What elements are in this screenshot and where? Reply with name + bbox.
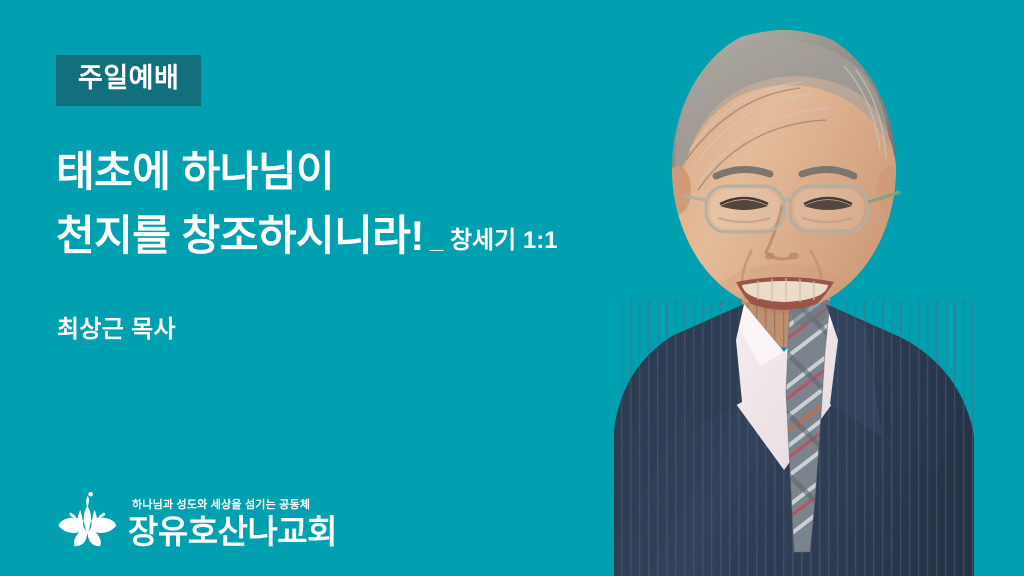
sermon-title-card: 주일예배 태초에 하나님이 천지를 창조하시니라!_ 창세기 1:1 최상근 목… [0, 0, 1024, 576]
headline-line-2-row: 천지를 창조하시니라!_ 창세기 1:1 [56, 204, 656, 268]
headline-line-1: 태초에 하나님이 [56, 140, 656, 204]
logo-tagline: 하나님과 성도와 세상을 섬기는 공동체 [132, 496, 337, 512]
speaker-name: 최상근 목사 [57, 309, 176, 344]
slide-content: 주일예배 태초에 하나님이 천지를 창조하시니라!_ 창세기 1:1 최상근 목… [0, 0, 660, 576]
scripture-reference: _ 창세기 1:1 [430, 227, 558, 254]
lily-flower-icon [56, 490, 118, 548]
church-logo: 하나님과 성도와 세상을 섬기는 공동체 장유호산나교회 [56, 490, 337, 550]
headline-line-2: 천지를 창조하시니라! [56, 212, 424, 259]
church-name: 장유호산나교회 [128, 515, 337, 550]
sermon-headline: 태초에 하나님이 천지를 창조하시니라!_ 창세기 1:1 [56, 140, 656, 268]
logo-wordmark: 하나님과 성도와 세상을 섬기는 공동체 장유호산나교회 [128, 496, 337, 550]
service-type-badge: 주일예배 [56, 55, 201, 106]
